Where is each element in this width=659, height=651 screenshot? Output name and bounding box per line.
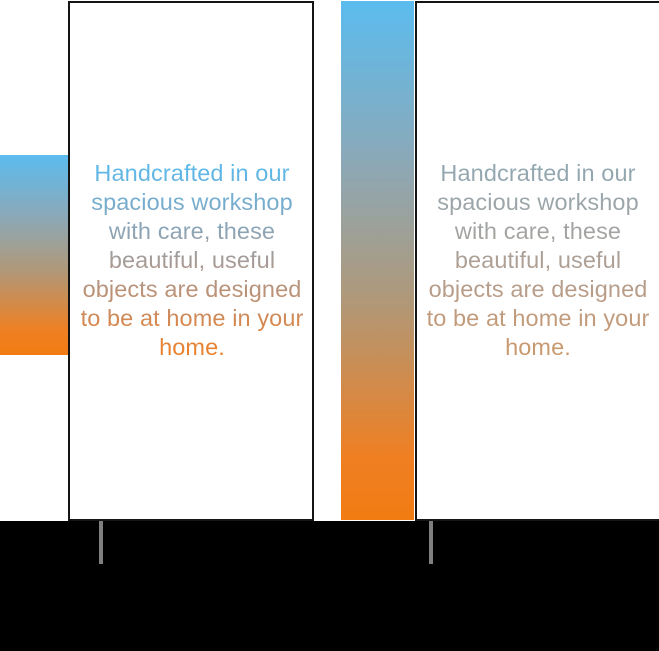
left-card-paragraph: Handcrafted in our spacious workshop wit… — [74, 159, 310, 362]
canvas-root: Handcrafted in our spacious workshop wit… — [0, 0, 659, 651]
tick-mark-1 — [99, 521, 103, 564]
right-card-paragraph: Handcrafted in our spacious workshop wit… — [420, 159, 656, 362]
tick-mark-2 — [429, 521, 433, 564]
gradient-swatch-right — [341, 1, 414, 520]
gradient-swatch-left — [0, 155, 68, 355]
